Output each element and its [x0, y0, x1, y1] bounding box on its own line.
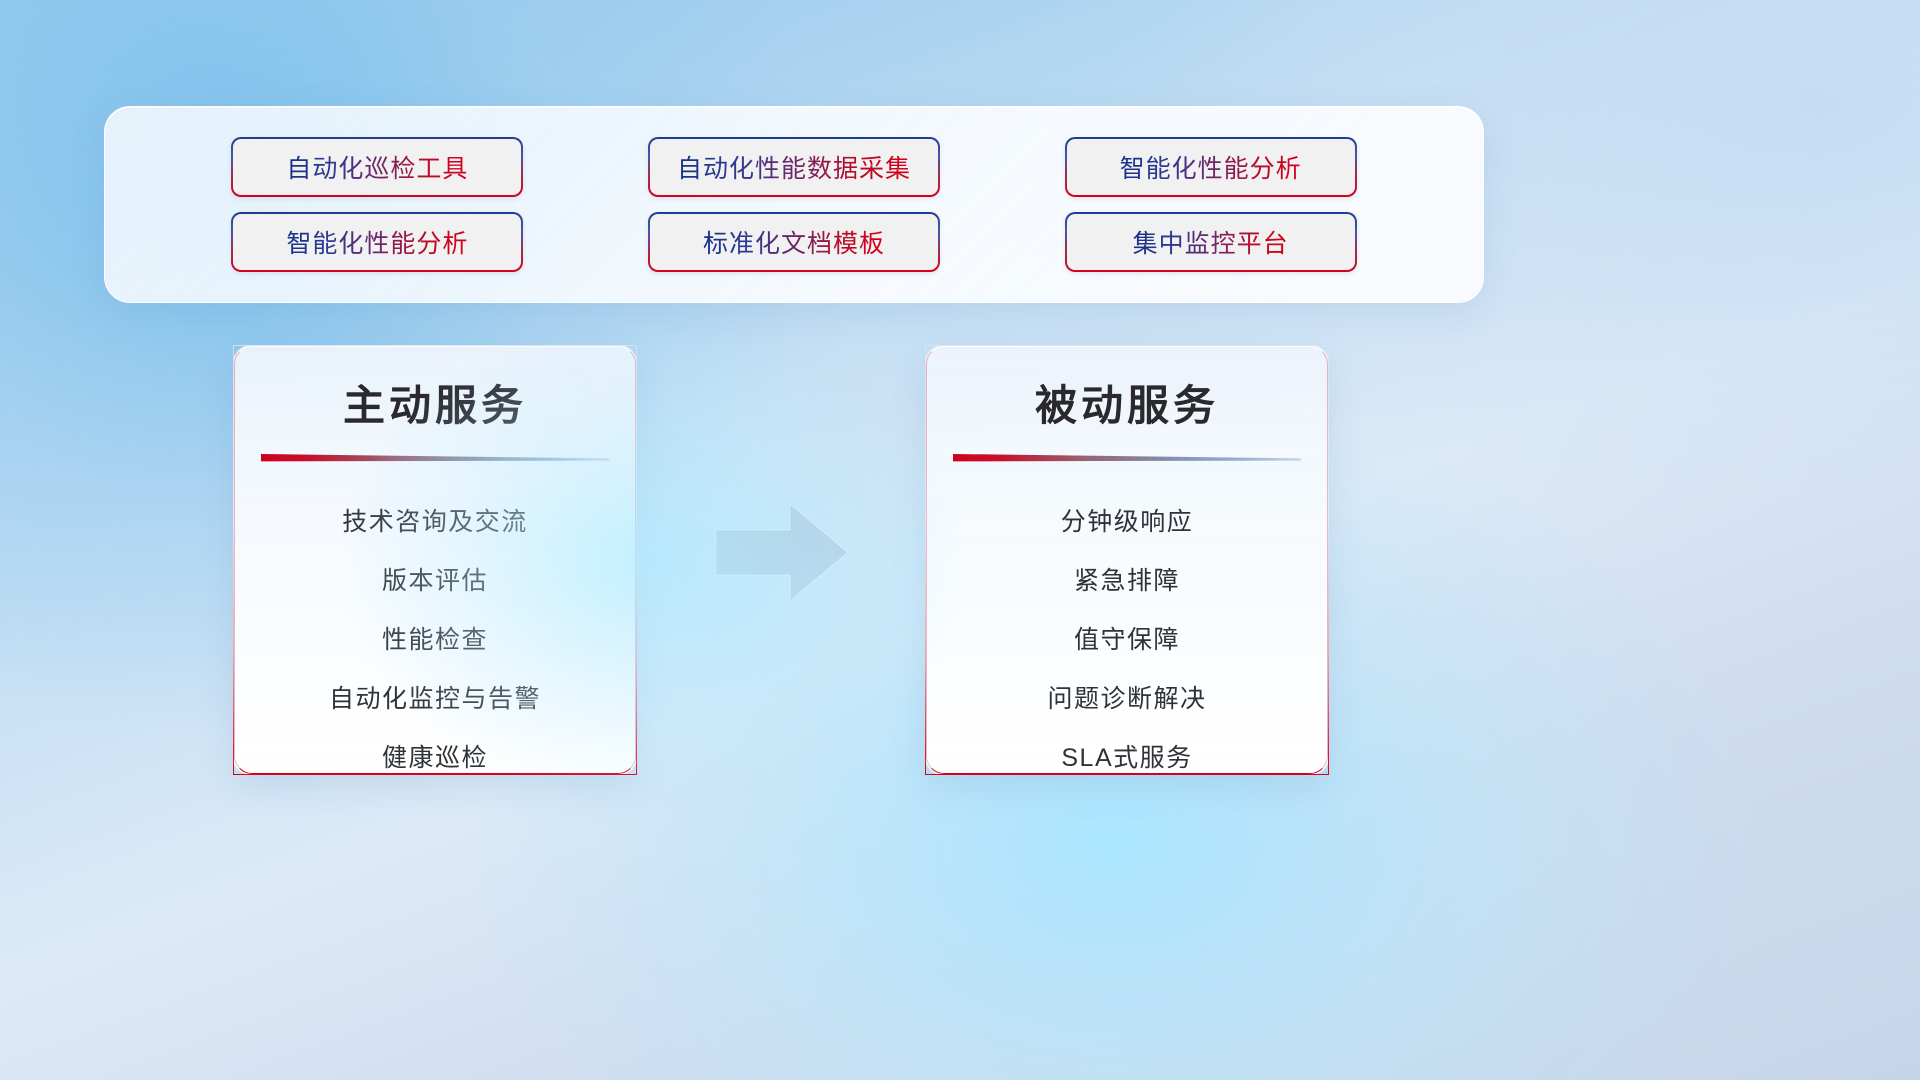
slide-canvas: 自动化巡检工具 自动化性能数据采集 智能化性能分析 智能化性能分析 标准化文档模… [0, 0, 1920, 1080]
capability-pill-surface: 自动化性能数据采集 [650, 139, 938, 195]
arrow-right-icon [712, 500, 852, 605]
service-item: 性能检查 [382, 611, 488, 670]
title-divider-shape [953, 452, 1301, 463]
service-item: 紧急排障 [1074, 552, 1180, 611]
service-item: 自动化监控与告警 [329, 670, 541, 729]
title-divider-shape [261, 452, 609, 463]
service-item: SLA式服务 [1061, 729, 1192, 775]
service-card-title: 被动服务 [926, 372, 1328, 433]
capability-pill-label: 集中监控平台 [1133, 224, 1289, 260]
service-item-list: 分钟级响应 紧急排障 值守保障 问题诊断解决 SLA式服务 [926, 493, 1328, 775]
capability-panel: 自动化巡检工具 自动化性能数据采集 智能化性能分析 智能化性能分析 标准化文档模… [104, 106, 1484, 303]
service-item: 值守保障 [1074, 611, 1180, 670]
service-item: 版本评估 [382, 552, 488, 611]
capability-pill[interactable]: 集中监控平台 [1065, 212, 1357, 272]
capability-pill-surface: 标准化文档模板 [650, 214, 938, 270]
service-card-title: 主动服务 [234, 372, 636, 433]
service-item: 技术咨询及交流 [342, 493, 528, 552]
capability-pill-surface: 智能化性能分析 [1067, 139, 1355, 195]
service-card-proactive: 主动服务 技术咨询及交流 版本评估 性能检查 [233, 345, 637, 775]
service-item: 问题诊断解决 [1047, 670, 1206, 729]
capability-pill-label: 自动化性能数据采集 [677, 149, 911, 185]
service-item: 分钟级响应 [1061, 493, 1194, 552]
title-divider [953, 452, 1301, 463]
capability-pill[interactable]: 自动化性能数据采集 [648, 137, 940, 197]
capability-pill-surface: 智能化性能分析 [233, 214, 521, 270]
capability-pill-label: 智能化性能分析 [1120, 149, 1302, 185]
capability-pill-surface: 自动化巡检工具 [233, 139, 521, 195]
capability-pill-label: 智能化性能分析 [286, 224, 468, 260]
capability-pill[interactable]: 标准化文档模板 [648, 212, 940, 272]
capability-pill[interactable]: 自动化巡检工具 [231, 137, 523, 197]
capability-pill-surface: 集中监控平台 [1067, 214, 1355, 270]
capability-pill[interactable]: 智能化性能分析 [1065, 137, 1357, 197]
service-card-reactive: 被动服务 分钟级响应 紧急排障 值守保障 [925, 345, 1329, 775]
service-item-list: 技术咨询及交流 版本评估 性能检查 自动化监控与告警 健康巡检 [234, 493, 636, 775]
flow-arrow [712, 500, 852, 605]
service-item: 健康巡检 [382, 729, 488, 775]
capability-pill-label: 自动化巡检工具 [286, 149, 468, 185]
capability-pill[interactable]: 智能化性能分析 [231, 212, 523, 272]
capability-pill-label: 标准化文档模板 [703, 224, 885, 260]
title-divider [261, 452, 609, 463]
